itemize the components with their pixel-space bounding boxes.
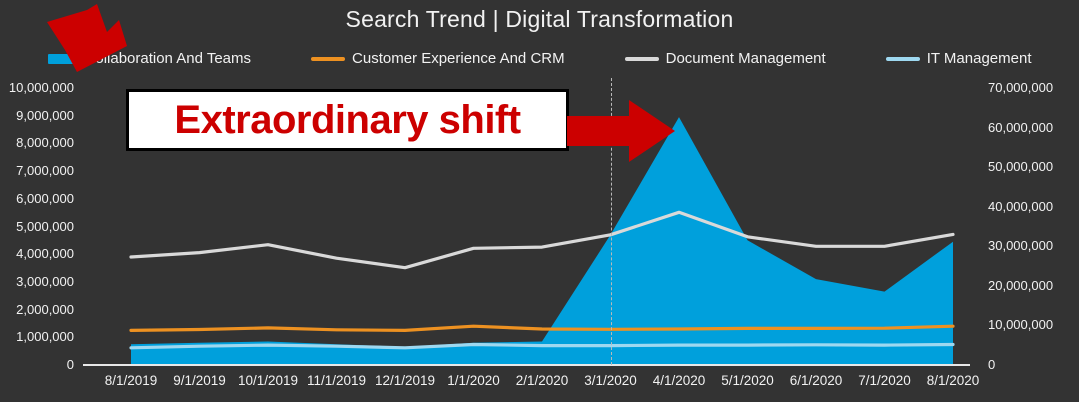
series-line-document-management [131, 212, 953, 267]
callout-text: Extraordinary shift [174, 98, 520, 143]
arrow-top-left-icon [45, 2, 157, 74]
chart-container: Search Trend | Digital Transformation Co… [0, 0, 1079, 402]
axis-tick-right [961, 364, 970, 366]
x-axis-line [92, 364, 961, 366]
callout-box: Extraordinary shift [126, 89, 569, 151]
series-line-customer-experience-and-crm [131, 326, 953, 330]
plot-area [0, 0, 1079, 402]
arrow-right-icon [567, 98, 677, 168]
axis-tick-left [83, 364, 92, 366]
